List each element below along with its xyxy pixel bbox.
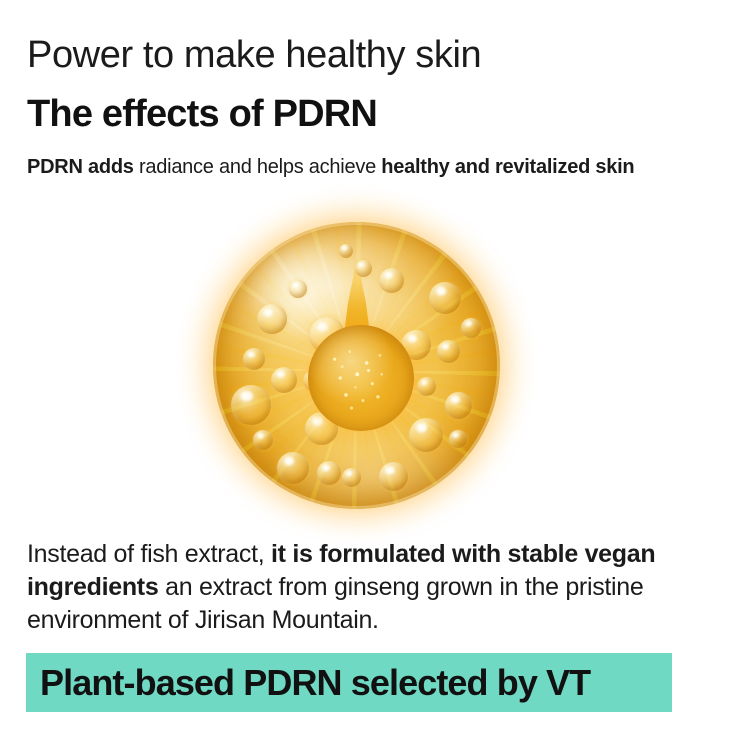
body-paragraph: Instead of fish extract, it is formulate… — [27, 538, 687, 637]
body-part-1: Instead of fish extract, — [27, 540, 271, 568]
subtitle-regular-middle: radiance and helps achieve — [134, 156, 382, 178]
sphere-rim — [213, 222, 500, 509]
promo-page: Power to make healthy skin The effects o… — [0, 0, 750, 750]
subtitle-bold-tail: healthy and revitalized skin — [381, 156, 634, 178]
subtitle-bold-lead: PDRN adds — [27, 156, 134, 178]
eyebrow-heading: Power to make healthy skin — [27, 33, 481, 77]
banner-label: Plant-based PDRN selected by VT — [26, 662, 590, 704]
page-title: The effects of PDRN — [27, 92, 377, 136]
product-hero-image — [186, 196, 526, 532]
serum-sphere — [213, 222, 500, 509]
subtitle: PDRN adds radiance and helps achieve hea… — [27, 154, 634, 180]
highlight-banner: Plant-based PDRN selected by VT — [26, 653, 672, 712]
